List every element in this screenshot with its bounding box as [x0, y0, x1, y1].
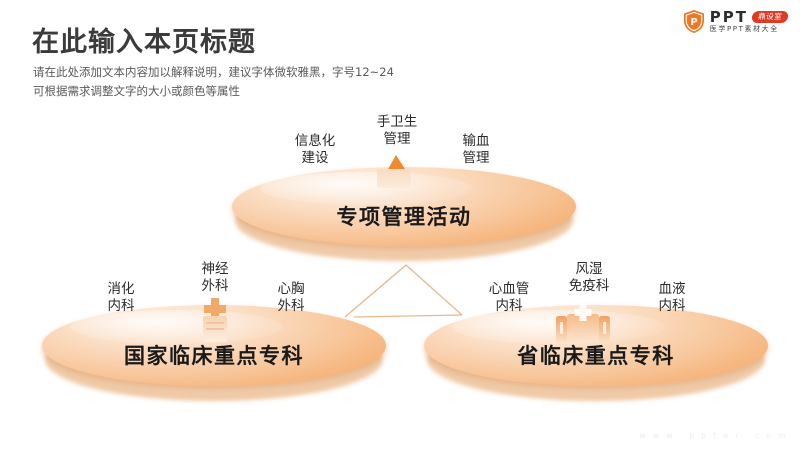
- hand-hygiene-icon: [363, 152, 425, 190]
- label-line-2: 免疫科: [553, 278, 625, 295]
- label-line-2: 内科: [470, 298, 548, 315]
- label-top-info: 信息化 建设: [282, 133, 348, 167]
- logo-brand-text: PPT: [710, 10, 748, 25]
- label-left-gastro: 消化 内科: [88, 281, 154, 315]
- label-line-1: 心血管: [470, 281, 548, 298]
- label-right-hema: 血液 内科: [639, 281, 705, 315]
- brand-logo[interactable]: P PPT 鼎设室 医学PPT素材大全: [683, 6, 788, 36]
- page-title: 在此输入本页标题: [32, 20, 256, 59]
- label-line-2: 建设: [282, 150, 348, 167]
- logo-primary-row: PPT 鼎设室: [710, 10, 788, 25]
- node-title-left: 国家临床重点专科: [42, 340, 386, 370]
- label-line-2: 内科: [88, 298, 154, 315]
- label-line-1: 手卫生: [364, 114, 430, 131]
- label-line-2: 管理: [443, 150, 509, 167]
- label-line-2: 管理: [364, 131, 430, 148]
- label-line-1: 输血: [443, 133, 509, 150]
- node-title-right: 省临床重点专科: [424, 340, 768, 370]
- subtitle-line-2: 可根据需求调整文字的大小或颜色等属性: [33, 82, 394, 101]
- logo-tagline: 医学PPT素材大全: [710, 26, 788, 33]
- node-title-top: 专项管理活动: [232, 201, 576, 231]
- hospital-icon: [552, 300, 614, 344]
- label-left-neuro: 神经 外科: [182, 261, 248, 295]
- label-right-cardio: 心血管 内科: [470, 281, 548, 315]
- medical-kit-icon: [192, 296, 238, 344]
- subtitle-line-1: 请在此处添加文本内容加以解释说明，建议字体微软雅黑，字号12~24: [33, 63, 394, 82]
- label-top-hand: 手卫生 管理: [364, 114, 430, 148]
- shield-icon: P: [683, 9, 705, 34]
- slide-canvas: 在此输入本页标题 请在此处添加文本内容加以解释说明，建议字体微软雅黑，字号12~…: [0, 0, 800, 450]
- logo-text-block: PPT 鼎设室 医学PPT素材大全: [710, 10, 788, 33]
- label-line-2: 外科: [182, 278, 248, 295]
- label-line-1: 风湿: [553, 261, 625, 278]
- label-top-blood: 输血 管理: [443, 133, 509, 167]
- logo-badge: 鼎设室: [751, 11, 789, 23]
- label-line-1: 神经: [182, 261, 248, 278]
- label-left-cardiothoracic: 心胸 外科: [258, 281, 324, 315]
- label-line-1: 心胸: [258, 281, 324, 298]
- label-line-1: 血液: [639, 281, 705, 298]
- label-line-1: 消化: [88, 281, 154, 298]
- page-subtitle: 请在此处添加文本内容加以解释说明，建议字体微软雅黑，字号12~24 可根据需求调…: [33, 63, 394, 101]
- site-watermark: w w w . p p t e r . c o m: [639, 431, 788, 440]
- label-right-rheum: 风湿 免疫科: [553, 261, 625, 295]
- label-line-2: 外科: [258, 298, 324, 315]
- label-line-2: 内科: [639, 298, 705, 315]
- label-line-1: 信息化: [282, 133, 348, 150]
- svg-text:P: P: [690, 17, 697, 28]
